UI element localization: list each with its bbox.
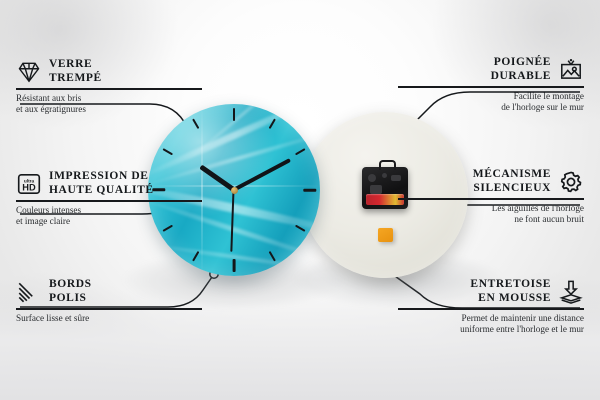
feature-header: MÉCANISMESILENCIEUX <box>398 168 584 195</box>
feature-title: ENTRETOISEEN MOUSSE <box>470 278 551 305</box>
feature-description: Résistant aux briset aux égratignures <box>16 93 202 116</box>
feature-divider <box>16 88 202 90</box>
feature-divider <box>398 198 584 200</box>
feature-title: POIGNÉEDURABLE <box>491 56 551 83</box>
feature-header: ultra HD IMPRESSION DEHAUTE QUALITÉ <box>16 170 202 197</box>
feature-bords-polis: BORDSPOLIS Surface lisse et sûre <box>16 278 202 324</box>
feature-description: Couleurs intenseset image claire <box>16 205 202 228</box>
center-hub <box>231 187 238 194</box>
foam-spacer-icon <box>558 279 584 305</box>
feature-entretoise-en-mousse: ENTRETOISEEN MOUSSE Permet de maintenir … <box>398 278 584 335</box>
movement-detail <box>382 173 387 178</box>
feature-impression-haute-qualite: ultra HD IMPRESSION DEHAUTE QUALITÉ Coul… <box>16 170 202 227</box>
feature-header: POIGNÉEDURABLE <box>398 56 584 83</box>
feature-divider <box>398 308 584 310</box>
feature-header: ENTRETOISEEN MOUSSE <box>398 278 584 305</box>
feature-title: BORDSPOLIS <box>49 278 92 305</box>
movement-detail <box>370 185 382 194</box>
feature-title: IMPRESSION DEHAUTE QUALITÉ <box>49 170 154 197</box>
diamond-icon <box>16 59 42 85</box>
feature-header: BORDSPOLIS <box>16 278 202 305</box>
feature-poignee-durable: POIGNÉEDURABLE Facilite le montagede l'h… <box>398 56 584 113</box>
feature-divider <box>398 86 584 88</box>
foam-spacer <box>378 228 393 242</box>
feature-description: Permet de maintenir une distanceuniforme… <box>398 313 584 336</box>
hanging-picture-icon <box>558 57 584 83</box>
svg-text:HD: HD <box>22 182 36 192</box>
diagonal-lines-icon <box>16 279 42 305</box>
feature-divider <box>16 308 202 310</box>
movement-detail <box>368 174 376 182</box>
infographic-canvas: VERRETREMPÉ Résistant aux briset aux égr… <box>0 0 600 400</box>
feature-title: MÉCANISMESILENCIEUX <box>473 168 551 195</box>
feature-mecanisme-silencieux: MÉCANISMESILENCIEUX Les aiguilles de l'h… <box>398 168 584 225</box>
feature-divider <box>16 200 202 202</box>
feature-title: VERRETREMPÉ <box>49 58 102 85</box>
hanger-tab-icon <box>379 160 396 170</box>
feature-verre-trempe: VERRETREMPÉ Résistant aux briset aux égr… <box>16 58 202 115</box>
feature-description: Surface lisse et sûre <box>16 313 202 324</box>
feature-description: Facilite le montagede l'horloge sur le m… <box>398 91 584 114</box>
feature-description: Les aiguilles de l'horlogene font aucun … <box>398 203 584 226</box>
ultra-hd-badge-icon: ultra HD <box>16 171 42 197</box>
feature-header: VERRETREMPÉ <box>16 58 202 85</box>
gear-icon <box>558 169 584 195</box>
